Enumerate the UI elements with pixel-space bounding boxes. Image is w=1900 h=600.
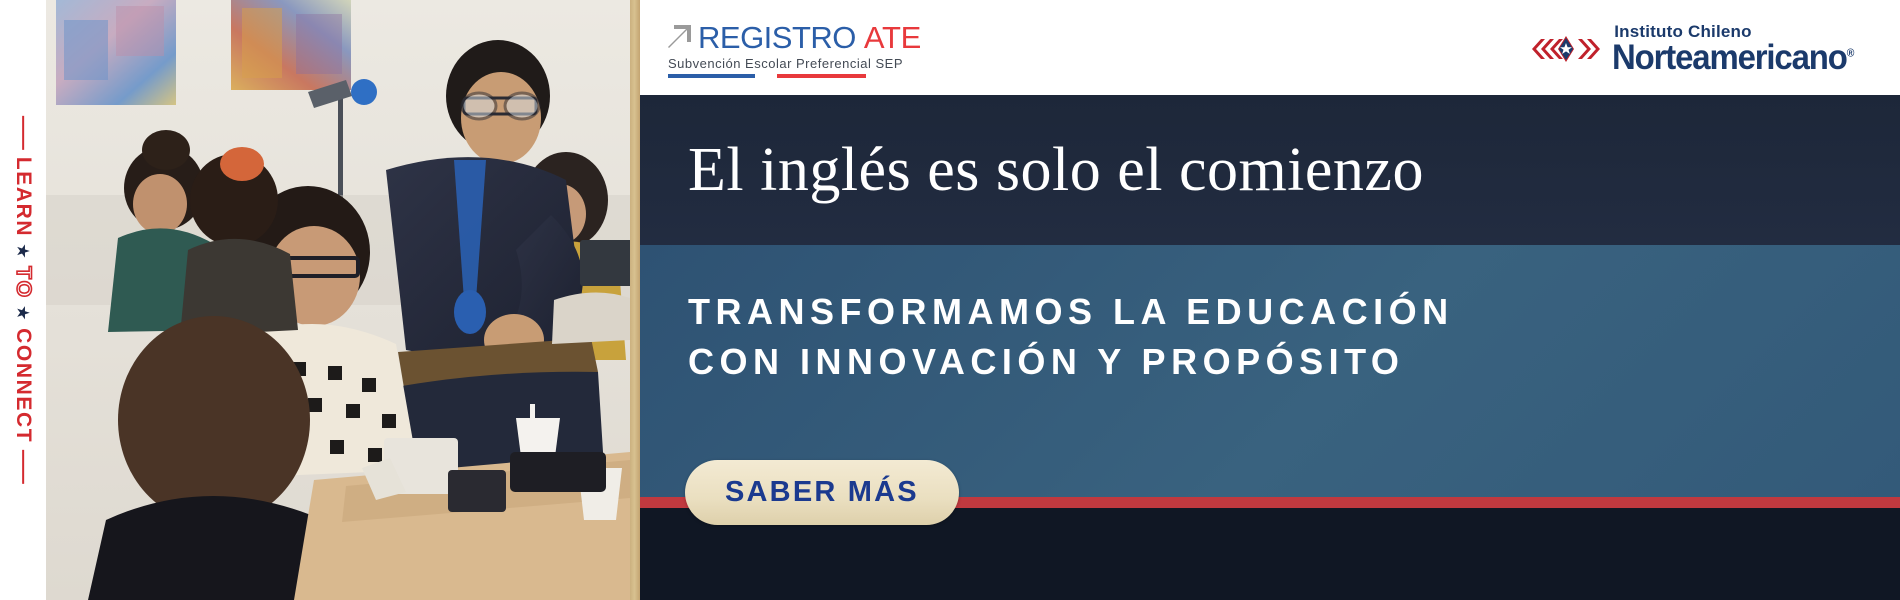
logo-bar: REGISTRO ATE Subvención Escolar Preferen…	[640, 0, 1900, 95]
tagline-dash-end	[22, 450, 24, 484]
diagonal-arrow-icon	[665, 22, 695, 52]
ate-word-registro: REGISTRO	[698, 22, 856, 53]
instituto-chileno-norteamericano-logo[interactable]: Instituto Chileno Norteamericano®	[1530, 23, 1870, 74]
content-panel: REGISTRO ATE Subvención Escolar Preferen…	[640, 0, 1900, 600]
tagline: LEARN ★ TO ★ CONNECT	[11, 116, 35, 484]
diamond-star-chevron-icon	[1530, 30, 1602, 68]
star-icon-2: ★	[16, 306, 31, 321]
icna-line-norteamericano: Norteamericano®	[1612, 41, 1854, 74]
chile-flag-bar-icon	[668, 74, 866, 78]
tagline-word-learn: LEARN	[11, 157, 35, 237]
ate-word-ate: ATE	[864, 22, 921, 53]
tagline-dash-start	[22, 116, 24, 150]
page-title: El inglés es solo el comienzo	[688, 135, 1424, 206]
gold-divider	[630, 0, 640, 600]
subtitle-line-1: TRANSFORMAMOS LA EDUCACIÓN	[688, 287, 1900, 337]
saber-mas-button[interactable]: SABER MÁS	[685, 460, 959, 525]
subtitle-line-2: CON INNOVACIÓN Y PROPÓSITO	[688, 337, 1900, 387]
classroom-photo-illustration	[46, 0, 630, 600]
tagline-word-to: TO	[11, 266, 35, 299]
classroom-photo	[46, 0, 630, 600]
promotional-banner: LEARN ★ TO ★ CONNECT	[0, 0, 1900, 600]
registro-ate-wordmark: REGISTRO ATE	[665, 22, 921, 53]
headline-band: El inglés es solo el comienzo	[640, 95, 1900, 245]
registered-trademark-icon: ®	[1847, 47, 1855, 59]
ate-subtitle: Subvención Escolar Preferencial SEP	[668, 56, 903, 71]
vertical-tagline-rail: LEARN ★ TO ★ CONNECT	[0, 0, 46, 600]
icna-wordmark: Instituto Chileno Norteamericano®	[1612, 23, 1870, 74]
tagline-word-connect: CONNECT	[11, 328, 35, 443]
registro-ate-logo[interactable]: REGISTRO ATE Subvención Escolar Preferen…	[665, 22, 921, 78]
star-icon-1: ★	[16, 244, 31, 259]
